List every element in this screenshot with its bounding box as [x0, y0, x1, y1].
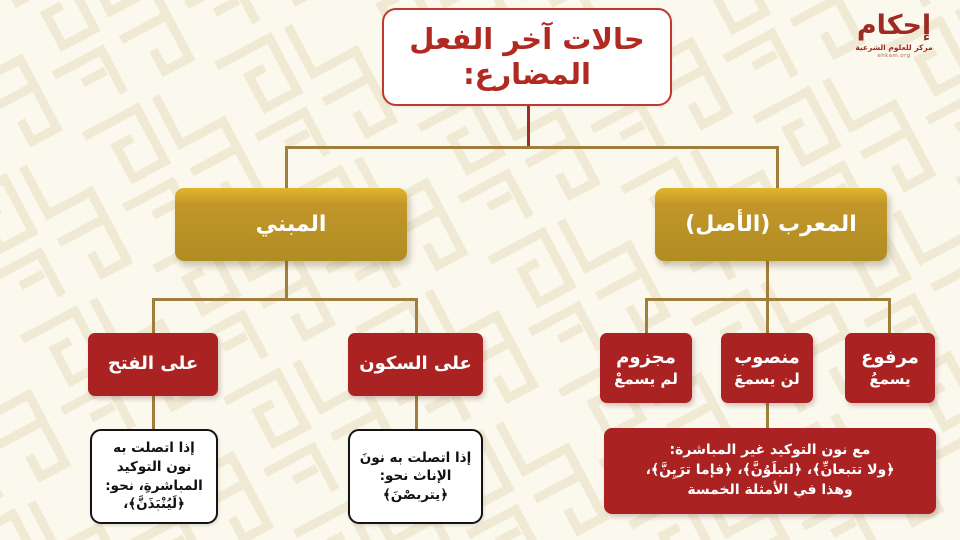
logo: إحكام مركز للعلوم الشرعية ehkam.org: [842, 12, 946, 86]
node-mansub[interactable]: منصوب لن يسمعَ: [721, 333, 813, 403]
connector-top-horizontal: [285, 146, 779, 149]
note-ala-assukun: إذا اتصلت به نونَ الإناث نحو: ﴿يتربصْنَ﴾: [348, 429, 483, 524]
connector-mabni-right-drop: [415, 298, 418, 333]
connector-title-down: [527, 106, 530, 146]
note-ala-alfath-text: إذا اتصلت به نون التوكيد المباشرةِ، نحو:…: [99, 439, 209, 514]
note-muarab-line1: مع نون التوكيد غير المباشرة:: [670, 441, 871, 461]
node-ala-alfath-label: على الفتح: [108, 354, 198, 375]
connector-to-muarab: [776, 146, 779, 188]
node-mabni-label: المبني: [256, 212, 327, 237]
node-ala-assukun[interactable]: على السكون: [348, 333, 483, 396]
connector-mabni-left-drop: [152, 298, 155, 333]
node-muarab[interactable]: المعرب (الأصل): [655, 188, 887, 261]
connector-sukun-to-note: [415, 396, 418, 429]
node-majzum-label: مجزوم: [616, 348, 676, 369]
diagram-title: حالات آخر الفعل المضارع:: [382, 8, 672, 106]
connector-muarab-drop-1: [645, 298, 648, 333]
node-mansub-example: لن يسمعَ: [734, 371, 800, 388]
connector-fath-to-note: [152, 396, 155, 429]
node-mabni[interactable]: المبني: [175, 188, 407, 261]
node-majzum-example: لم يسمعْ: [614, 371, 678, 388]
note-muarab-line3: وهذا في الأمثلة الخمسة: [687, 481, 852, 501]
note-muarab-line2: ﴿ولا تتبعانِّ﴾، ﴿لتبلَوُنَّ﴾، ﴿فإما ترَي…: [646, 461, 895, 481]
note-ala-assukun-text: إذا اتصلت به نونَ الإناث نحو: ﴿يتربصْنَ﴾: [357, 449, 474, 505]
note-muarab: مع نون التوكيد غير المباشرة: ﴿ولا تتبعان…: [604, 428, 936, 514]
connector-to-mabni: [285, 146, 288, 188]
diagram-title-text: حالات آخر الفعل المضارع:: [400, 22, 654, 93]
connector-mabni-horizontal: [152, 298, 418, 301]
node-marfu[interactable]: مرفوع يسمعُ: [845, 333, 935, 403]
logo-wordmark: إحكام: [842, 12, 946, 39]
node-mansub-label: منصوب: [734, 348, 800, 369]
node-ala-assukun-label: على السكون: [359, 354, 471, 375]
connector-muarab-drop-2: [766, 298, 769, 333]
connector-muarab-to-note: [766, 403, 769, 428]
logo-url: ehkam.org: [842, 53, 946, 59]
logo-subtitle: مركز للعلوم الشرعية: [842, 43, 946, 52]
node-muarab-label: المعرب (الأصل): [685, 212, 857, 237]
node-marfu-label: مرفوع: [861, 348, 919, 369]
node-ala-alfath[interactable]: على الفتح: [88, 333, 218, 396]
note-ala-alfath: إذا اتصلت به نون التوكيد المباشرةِ، نحو:…: [90, 429, 218, 524]
connector-mabni-down: [285, 261, 288, 299]
node-marfu-example: يسمعُ: [869, 371, 910, 388]
node-majzum[interactable]: مجزوم لم يسمعْ: [600, 333, 692, 403]
connector-muarab-down: [766, 261, 769, 299]
diagram-canvas: إحكام مركز للعلوم الشرعية ehkam.org حالا…: [0, 0, 960, 540]
connector-muarab-drop-3: [888, 298, 891, 333]
